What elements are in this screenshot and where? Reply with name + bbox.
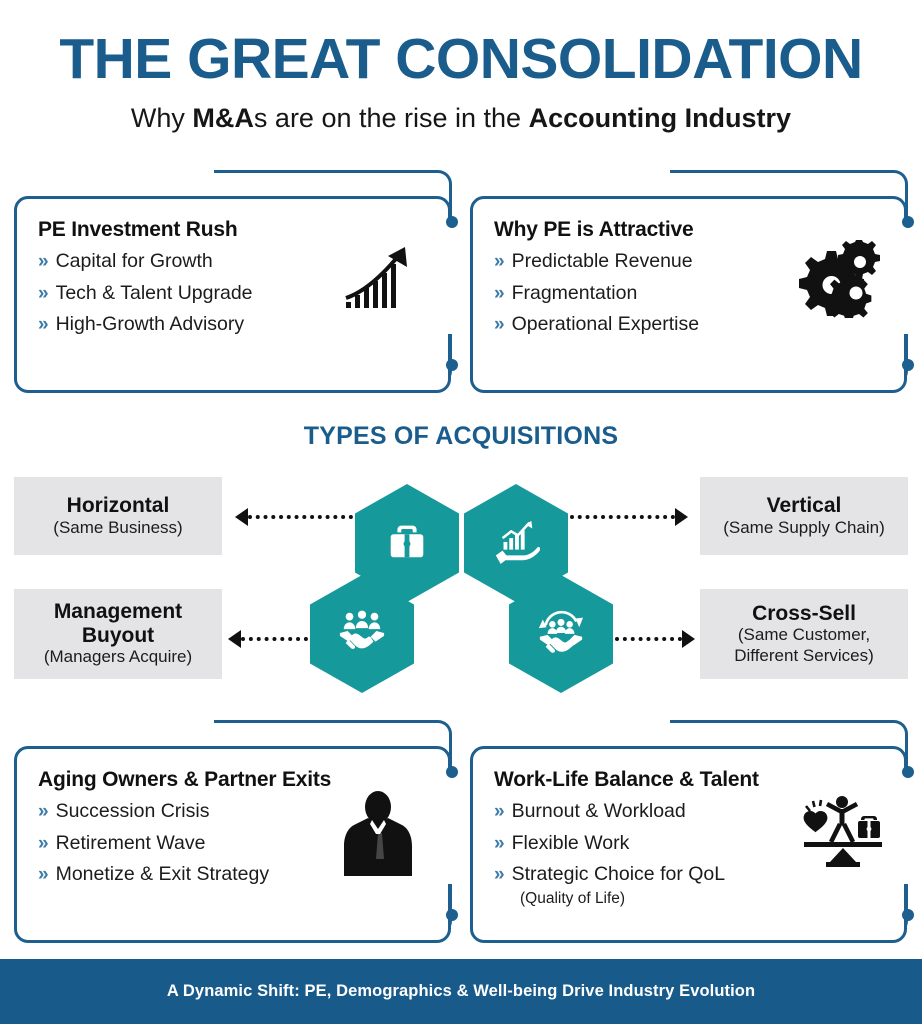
card-aging-owners-partner-exits: Aging Owners & Partner Exits »Succession… xyxy=(14,728,454,943)
chevron-bullet-icon: » xyxy=(38,315,49,334)
infographic-page: THE GREAT CONSOLIDATION Why M&As are on … xyxy=(0,0,922,1024)
type-subtext-line2: Different Services) xyxy=(734,646,874,666)
footer-text: A Dynamic Shift: PE, Demographics & Well… xyxy=(167,982,755,1001)
team-handshake-icon xyxy=(337,608,387,661)
chevron-bullet-icon: » xyxy=(494,865,505,884)
header: THE GREAT CONSOLIDATION Why M&As are on … xyxy=(0,30,922,134)
card-note: (Quality of Life) xyxy=(520,890,887,908)
footer-bar: A Dynamic Shift: PE, Demographics & Well… xyxy=(0,959,922,1024)
type-name-line1: Management xyxy=(54,600,182,624)
bullet-text: Operational Expertise xyxy=(512,309,700,341)
type-label-cross-sell: Cross-Sell (Same Customer, Different Ser… xyxy=(700,589,908,679)
briefcase-icon xyxy=(384,518,430,569)
type-subtext: (Same Business) xyxy=(53,518,182,538)
connector-cross-sell xyxy=(615,630,695,648)
businessman-silhouette-icon xyxy=(342,790,414,881)
gears-icon xyxy=(794,240,880,323)
card-title: Why PE is Attractive xyxy=(494,218,887,242)
dotted-line xyxy=(615,637,682,641)
bullet-text: Monetize & Exit Strategy xyxy=(56,859,270,891)
growth-chart-arrow-icon xyxy=(342,240,416,319)
chevron-bullet-icon: » xyxy=(38,802,49,821)
connector-vertical xyxy=(570,508,688,526)
type-label-management-buyout: Management Buyout (Managers Acquire) xyxy=(14,589,222,679)
bullet-text: Burnout & Workload xyxy=(512,796,686,828)
card-title: Work-Life Balance & Talent xyxy=(494,768,887,792)
dotted-line xyxy=(248,515,353,519)
subtitle-bold-mna: M&A xyxy=(192,103,254,133)
type-name: Cross-Sell xyxy=(752,602,856,626)
chevron-bullet-icon: » xyxy=(494,284,505,303)
chevron-bullet-icon: » xyxy=(494,802,505,821)
card-title: PE Investment Rush xyxy=(38,218,431,242)
connector-management-buyout xyxy=(228,630,308,648)
bullet-text: Capital for Growth xyxy=(56,246,213,278)
dotted-line xyxy=(570,515,675,519)
card-work-life-balance-talent: Work-Life Balance & Talent »Burnout & Wo… xyxy=(470,728,910,943)
subtitle-bold-industry: Accounting Industry xyxy=(529,103,792,133)
subtitle-part-1: Why xyxy=(131,103,193,133)
bullet-text: Flexible Work xyxy=(512,828,630,860)
chevron-bullet-icon: » xyxy=(38,865,49,884)
arrow-left-icon xyxy=(228,630,241,648)
arrow-right-icon xyxy=(675,508,688,526)
dotted-line xyxy=(241,637,308,641)
hand-growth-chart-icon xyxy=(492,517,540,570)
bullet-text: Predictable Revenue xyxy=(512,246,693,278)
type-name-line2: Buyout xyxy=(82,624,154,648)
subtitle-part-2: s are on the rise in the xyxy=(254,103,529,133)
type-label-vertical: Vertical (Same Supply Chain) xyxy=(700,477,908,555)
connector-horizontal xyxy=(235,508,353,526)
work-life-balance-scale-icon xyxy=(796,790,888,875)
type-name: Vertical xyxy=(767,494,842,518)
bullet-text: Tech & Talent Upgrade xyxy=(56,278,253,310)
bullet-text: Strategic Choice for QoL xyxy=(512,859,726,891)
chevron-bullet-icon: » xyxy=(494,315,505,334)
type-subtext: (Managers Acquire) xyxy=(44,647,192,667)
type-subtext: (Same Supply Chain) xyxy=(723,518,885,538)
chevron-bullet-icon: » xyxy=(38,252,49,271)
bullet-text: Succession Crisis xyxy=(56,796,210,828)
type-name: Horizontal xyxy=(67,494,170,518)
bullet-text: High-Growth Advisory xyxy=(56,309,245,341)
chevron-bullet-icon: » xyxy=(38,834,49,853)
arrow-left-icon xyxy=(235,508,248,526)
chevron-bullet-icon: » xyxy=(494,834,505,853)
chevron-bullet-icon: » xyxy=(494,252,505,271)
page-subtitle: Why M&As are on the rise in the Accounti… xyxy=(0,102,922,134)
chevron-bullet-icon: » xyxy=(38,284,49,303)
card-pe-investment-rush: PE Investment Rush »Capital for Growth »… xyxy=(14,178,454,393)
card-title: Aging Owners & Partner Exits xyxy=(38,768,431,792)
bullet-text: Fragmentation xyxy=(512,278,638,310)
type-subtext-line1: (Same Customer, xyxy=(738,625,870,645)
page-title: THE GREAT CONSOLIDATION xyxy=(0,30,922,90)
card-why-pe-is-attractive: Why PE is Attractive »Predictable Revenu… xyxy=(470,178,910,393)
arrow-right-icon xyxy=(682,630,695,648)
type-label-horizontal: Horizontal (Same Business) xyxy=(14,477,222,555)
section-title-types-of-acquisitions: TYPES OF ACQUISITIONS xyxy=(0,422,922,451)
repeat-customer-handshake-icon xyxy=(536,608,586,661)
bullet-text: Retirement Wave xyxy=(56,828,206,860)
